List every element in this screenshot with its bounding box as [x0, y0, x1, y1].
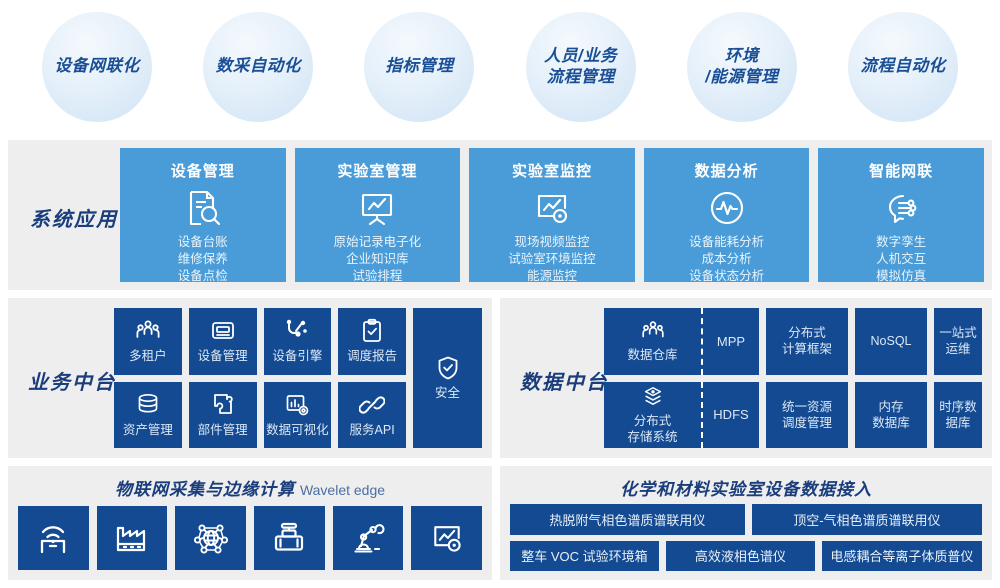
business-tile-device-management[interactable]: 设备管理 — [189, 308, 257, 375]
branch-node-icon — [284, 318, 310, 344]
tile-label-line1: 统一资源 — [782, 399, 832, 415]
data-platform-grid: 数据仓库 MPP 分布式 计算框架 NoSQL 一站式运维 — [604, 308, 982, 448]
system-application-panel: 系统应用 设备管理 设备台账 维修保养 设备 — [8, 140, 992, 290]
circle-line: 指标管理 — [385, 56, 453, 77]
network-globe-icon — [193, 520, 229, 556]
data-platform-panel: 数据中台 数据仓库 MPP — [500, 298, 992, 458]
business-tile-multi-tenant[interactable]: 多租户 — [114, 308, 182, 375]
clipboard-check-icon — [359, 318, 385, 344]
iot-edge-header: 物联网采集与边缘计算Wavelet edge — [8, 466, 492, 500]
tile-label: 多租户 — [129, 348, 167, 364]
data-tile-row-2: 分布式 存储系统 HDFS 统一资源 调度管理 内存 数据库 时序数据库 — [604, 382, 982, 449]
data-tile-unified-resource-scheduling[interactable]: 统一资源 调度管理 — [766, 382, 848, 449]
circle-line: 流程管理 — [544, 67, 617, 88]
tile-label-line2: 调度管理 — [782, 415, 832, 431]
system-application-label: 系统应用 — [30, 203, 118, 232]
tile-label: 存储系统 — [627, 429, 677, 445]
business-tile-device-engine[interactable]: 设备引擎 — [264, 308, 332, 375]
data-warehouse-cell[interactable]: 数据仓库 — [604, 308, 703, 375]
multi-tenant-icon — [641, 319, 665, 343]
link-chain-icon — [359, 392, 385, 418]
capability-circle-personnel-business-process-management[interactable]: 人员/业务 流程管理 — [526, 12, 636, 122]
iot-box-factory[interactable] — [97, 506, 168, 570]
circle-line: 环境 — [705, 46, 778, 67]
data-tile-mpp-tag[interactable]: MPP — [703, 308, 759, 375]
iot-icon-row — [18, 506, 482, 570]
card-line: 试验排程 — [334, 268, 422, 285]
monitor-chart-icon — [429, 520, 465, 556]
card-line: 企业知识库 — [334, 251, 422, 268]
capability-circle-process-automation[interactable]: 流程自动化 — [848, 12, 958, 122]
factory-icon — [114, 520, 150, 556]
tile-label: 调度报告 — [347, 348, 397, 364]
card-line: 模拟仿真 — [876, 268, 926, 285]
iot-box-robot-arm[interactable] — [333, 506, 404, 570]
capability-circles-row: 设备网联化 数采自动化 指标管理 人员/业务 流程管理 环境 /能源管理 流程自… — [0, 0, 1000, 134]
circle-line: 数采自动化 — [216, 56, 301, 77]
card-line: 能源监控 — [508, 268, 596, 285]
card-line: 设备台账 — [178, 234, 228, 251]
equipment-vehicle-voc-chamber[interactable]: 整车 VOC 试验环境箱 — [510, 541, 659, 572]
iot-box-wifi-gateway[interactable] — [18, 506, 89, 570]
document-search-icon — [183, 188, 223, 228]
card-title: 智能网联 — [869, 160, 933, 181]
chemistry-equipment-row-1: 热脱附气相色谱质谱联用仪 顶空-气相色谱质谱联用仪 — [510, 504, 982, 535]
circle-line: 人员/业务 — [544, 46, 617, 67]
circle-line: /能源管理 — [705, 67, 778, 88]
tile-label: 安全 — [435, 385, 460, 401]
card-line: 成本分析 — [689, 251, 764, 268]
tile-label-line2: 计算框架 — [782, 341, 832, 357]
shield-check-icon — [435, 355, 461, 381]
tile-label: 资产管理 — [123, 422, 173, 438]
wifi-gateway-icon — [35, 520, 71, 556]
business-tile-asset-management[interactable]: 资产管理 — [114, 382, 182, 449]
pulse-circle-icon — [707, 188, 747, 228]
card-lines: 原始记录电子化 企业知识库 试验排程 — [334, 234, 422, 285]
robot-arm-icon — [350, 520, 386, 556]
card-line: 试验室环境监控 — [508, 251, 596, 268]
database-stack-icon — [135, 392, 161, 418]
data-tile-warehouse-mpp[interactable]: 数据仓库 MPP — [604, 308, 759, 375]
chemistry-lab-title: 化学和材料实验室设备数据接入 — [500, 466, 992, 500]
iot-box-sensor-device[interactable] — [254, 506, 325, 570]
iot-box-network-globe[interactable] — [175, 506, 246, 570]
tile-label: 部件管理 — [198, 422, 248, 438]
capability-circle-metric-management[interactable]: 指标管理 — [364, 12, 474, 122]
business-tile-security[interactable]: 安全 — [413, 308, 482, 448]
multi-tenant-icon — [135, 318, 161, 344]
capability-circle-data-collection-automation[interactable]: 数采自动化 — [203, 12, 313, 122]
equipment-icp-ms[interactable]: 电感耦合等离子体质普仪 — [822, 541, 982, 572]
tile-label: 数据可视化 — [266, 422, 329, 438]
capability-circle-environment-energy-management[interactable]: 环境 /能源管理 — [687, 12, 797, 122]
data-tile-nosql[interactable]: NoSQL — [855, 308, 927, 375]
tile-label: 数据仓库 — [627, 347, 677, 363]
iot-edge-subtitle: Wavelet edge — [300, 482, 385, 498]
tile-label: 设备管理 — [198, 348, 248, 364]
business-tiles: 多租户 设备管理 — [114, 308, 406, 448]
card-line: 维修保养 — [178, 251, 228, 268]
business-tile-dispatch-report[interactable]: 调度报告 — [338, 308, 406, 375]
smart-connect-icon — [881, 188, 921, 228]
system-card-smart-connectivity[interactable]: 智能网联 数字孪生 人机交互 模拟仿真 — [818, 148, 984, 282]
business-platform-panel: 业务中台 多租户 — [8, 298, 492, 458]
equipment-thermal-desorption-gcms[interactable]: 热脱附气相色谱质谱联用仪 — [510, 504, 745, 535]
system-card-laboratory-management[interactable]: 实验室管理 原始记录电子化 企业知识库 试验排程 — [295, 148, 461, 282]
monitor-chart-icon — [532, 188, 572, 228]
tile-label-line1: 一站式运维 — [934, 325, 982, 358]
tile-label-line1: NoSQL — [871, 333, 912, 349]
data-tile-distributed-storage-hdfs[interactable]: 分布式 存储系统 HDFS — [604, 382, 759, 449]
chemistry-lab-panel: 化学和材料实验室设备数据接入 热脱附气相色谱质谱联用仪 顶空-气相色谱质谱联用仪… — [500, 466, 992, 580]
business-tile-data-visualization[interactable]: 数据可视化 — [264, 382, 332, 449]
data-tile-distributed-computing-framework[interactable]: 分布式 计算框架 — [766, 308, 848, 375]
data-tile-hdfs-tag[interactable]: HDFS — [703, 382, 759, 449]
tile-label-line1: 内存 — [878, 399, 903, 415]
tile-label: 设备引擎 — [272, 348, 322, 364]
circle-line: 设备网联化 — [55, 56, 140, 77]
card-lines: 数字孪生 人机交互 模拟仿真 — [876, 234, 926, 285]
business-platform-grid: 多租户 设备管理 — [114, 308, 482, 448]
chemistry-equipment-row-2: 整车 VOC 试验环境箱 高效液相色谱仪 电感耦合等离子体质普仪 — [510, 541, 982, 572]
tile-label: 服务API — [350, 422, 395, 438]
puzzle-piece-icon — [210, 392, 236, 418]
card-title: 设备管理 — [171, 160, 235, 181]
chemistry-equipment-rows: 热脱附气相色谱质谱联用仪 顶空-气相色谱质谱联用仪 整车 VOC 试验环境箱 高… — [510, 504, 982, 571]
system-application-cards: 设备管理 设备台账 维修保养 设备点检 — [120, 148, 984, 282]
tile-label-line2: 数据库 — [872, 415, 910, 431]
tile-label: 分布式 — [634, 413, 672, 429]
system-card-device-management[interactable]: 设备管理 设备台账 维修保养 设备点检 — [120, 148, 286, 282]
card-line: 人机交互 — [876, 251, 926, 268]
card-line: 原始记录电子化 — [334, 234, 422, 251]
system-card-data-analysis[interactable]: 数据分析 设备能耗分析 成本分析 设备状态分析 — [644, 148, 810, 282]
bar-chart-gear-icon — [284, 392, 310, 418]
iot-edge-panel: 物联网采集与边缘计算Wavelet edge — [8, 466, 492, 580]
business-tile-service-api[interactable]: 服务API — [338, 382, 406, 449]
circle-line: 流程自动化 — [860, 56, 945, 77]
card-lines: 现场视频监控 试验室环境监控 能源监控 — [508, 234, 596, 285]
card-line: 设备能耗分析 — [689, 234, 764, 251]
business-tile-row-2: 资产管理 部件管理 — [114, 382, 406, 449]
card-line: 设备点检 — [178, 268, 228, 285]
data-tile-in-memory-database[interactable]: 内存 数据库 — [855, 382, 927, 449]
presentation-chart-icon — [357, 188, 397, 228]
architecture-diagram: 设备网联化 数采自动化 指标管理 人员/业务 流程管理 环境 /能源管理 流程自… — [0, 0, 1000, 588]
sensor-device-icon — [271, 520, 307, 556]
data-tile-one-stop-operations[interactable]: 一站式运维 — [934, 308, 982, 375]
card-line: 现场视频监控 — [508, 234, 596, 251]
iot-box-monitor-chart[interactable] — [411, 506, 482, 570]
card-lines: 设备台账 维修保养 设备点检 — [178, 234, 228, 285]
system-card-laboratory-monitoring[interactable]: 实验室监控 现场视频监控 试验室环境监控 能源监控 — [469, 148, 635, 282]
card-title: 实验室监控 — [512, 160, 592, 181]
equipment-headspace-gcms[interactable]: 顶空-气相色谱质谱联用仪 — [752, 504, 982, 535]
device-box-icon — [210, 318, 236, 344]
business-tile-component-management[interactable]: 部件管理 — [189, 382, 257, 449]
business-platform-label: 业务中台 — [28, 366, 116, 395]
card-lines: 设备能耗分析 成本分析 设备状态分析 — [689, 234, 764, 285]
distributed-storage-cell[interactable]: 分布式 存储系统 — [604, 382, 703, 449]
data-tile-row-1: 数据仓库 MPP 分布式 计算框架 NoSQL 一站式运维 — [604, 308, 982, 375]
equipment-hplc[interactable]: 高效液相色谱仪 — [666, 541, 815, 572]
business-tile-row-1: 多租户 设备管理 — [114, 308, 406, 375]
tile-label-line1: 分布式 — [788, 325, 826, 341]
iot-edge-title: 物联网采集与边缘计算 — [115, 480, 295, 499]
data-platform-label: 数据中台 — [520, 366, 608, 395]
card-line: 数字孪生 — [876, 234, 926, 251]
capability-circle-device-networking[interactable]: 设备网联化 — [42, 12, 152, 122]
card-title: 数据分析 — [695, 160, 759, 181]
data-tile-time-series-database[interactable]: 时序数据库 — [934, 382, 982, 449]
cube-layers-icon — [641, 385, 665, 409]
tile-label-line1: 时序数据库 — [934, 399, 982, 432]
card-title: 实验室管理 — [337, 160, 417, 181]
card-line: 设备状态分析 — [689, 268, 764, 285]
